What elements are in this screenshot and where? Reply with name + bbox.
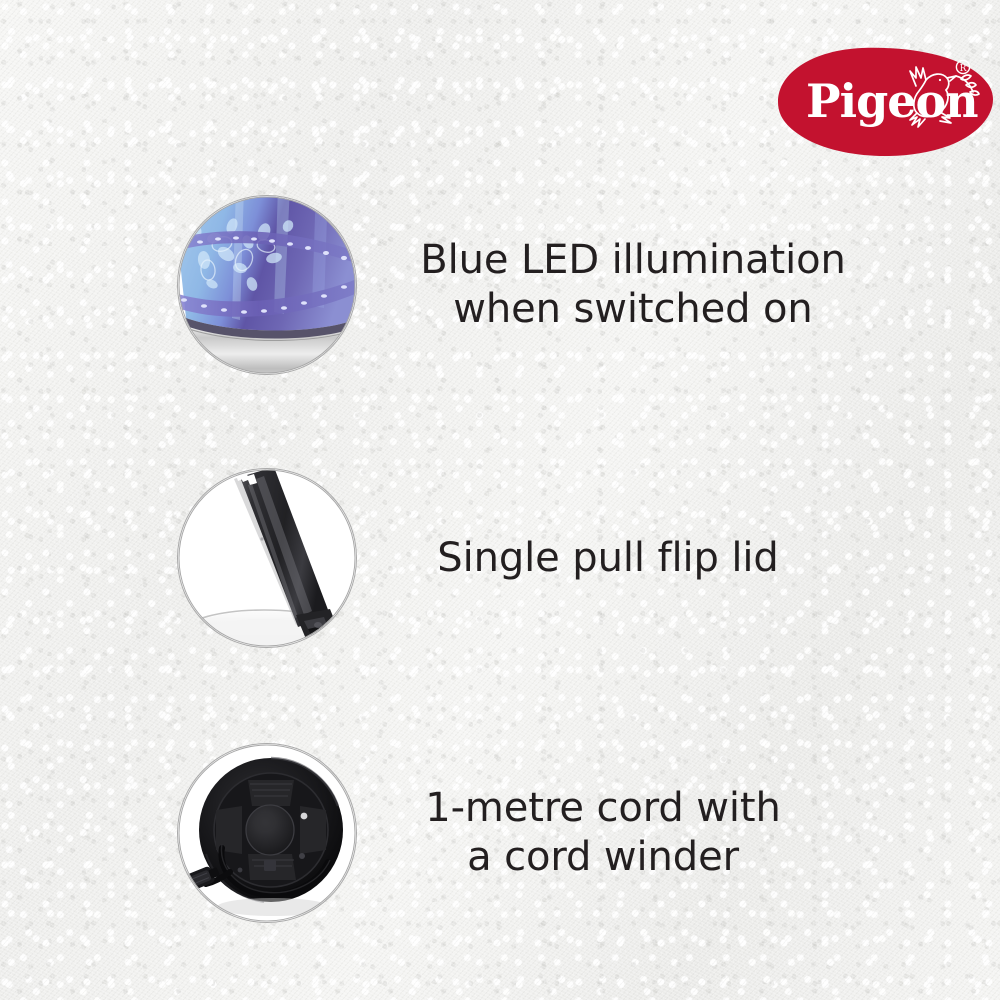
- kettle-flip-lid-photo: [178, 469, 356, 647]
- feature-caption-cord-winder: 1-metre cord with a cord winder: [356, 784, 1000, 882]
- kettle-cord-winder-base-photo: [178, 744, 356, 922]
- kettle-blue-led-base-photo: [178, 196, 356, 374]
- feature-caption-blue-led: Blue LED illumination when switched on: [356, 236, 1000, 334]
- pigeon-brand-logo: Pigeon R: [770, 40, 998, 160]
- feature-row-cord-winder: 1-metre cord with a cord winder: [0, 743, 1000, 923]
- logo-wordmark: Pigeon: [806, 74, 978, 128]
- svg-text:R: R: [960, 64, 967, 74]
- feature-caption-flip-lid: Single pull flip lid: [356, 534, 1000, 583]
- feature-row-flip-lid: Single pull flip lid: [0, 468, 1000, 648]
- screw-dot: [301, 813, 308, 820]
- feature-row-blue-led: Blue LED illumination when switched on: [0, 195, 1000, 375]
